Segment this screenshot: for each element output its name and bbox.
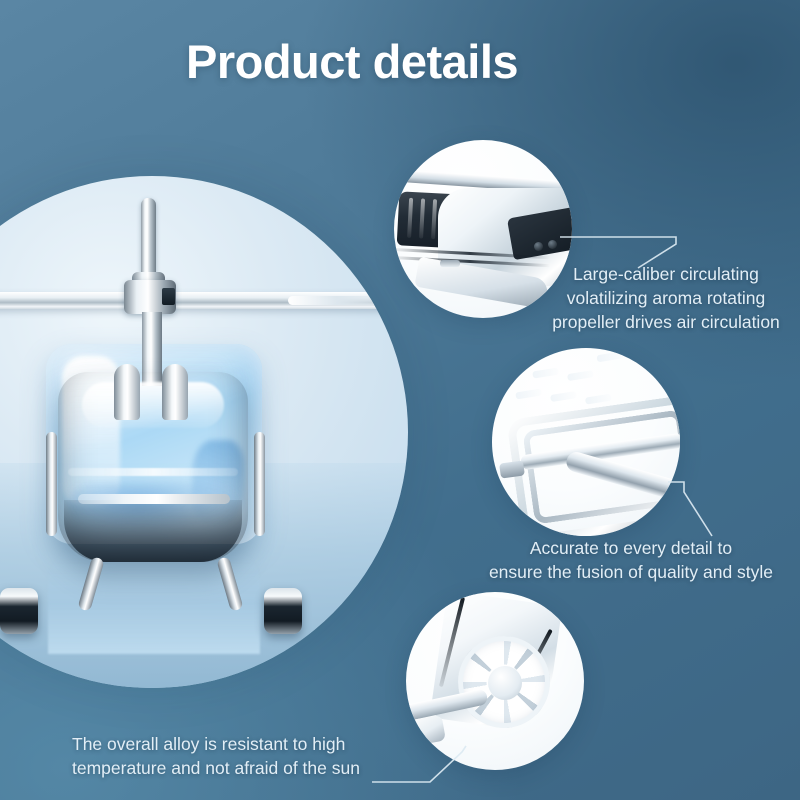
side-fin-left	[46, 432, 57, 536]
detail-photo-3	[406, 592, 584, 770]
product-details-page: Product details	[0, 0, 800, 800]
landing-skid-right	[216, 556, 243, 611]
cockpit-pillar-right	[162, 364, 188, 420]
side-fin-right	[254, 432, 265, 536]
fuselage-top-highlight	[82, 382, 224, 428]
rotor-blade-tip-right	[288, 296, 408, 305]
tail-boom-peg	[406, 715, 446, 748]
callout-2-line-2: ensure the fusion of quality and style	[466, 560, 796, 584]
cockpit-pillar-left	[114, 364, 140, 420]
fuselage-shadow	[64, 500, 242, 562]
hero-product-image	[0, 176, 408, 688]
page-title: Product details	[186, 34, 518, 89]
callout-2-line-1: Accurate to every detail to	[466, 536, 796, 560]
skid-foot-left	[0, 588, 38, 634]
callout-3-line-2: temperature and not afraid of the sun	[72, 756, 402, 780]
detail-photo-2	[492, 348, 680, 536]
hero-artwork	[0, 176, 408, 688]
fuselage-specular-band	[68, 468, 238, 476]
rivet-dot-right	[548, 240, 557, 249]
body-slot-detail	[440, 260, 460, 267]
callout-text-2: Accurate to every detail to ensure the f…	[466, 536, 796, 584]
callout-1-line-2: volatilizing aroma rotating	[534, 286, 798, 310]
horizontal-stabilizer	[78, 494, 230, 504]
rotor-hub-marker	[162, 288, 175, 305]
skid-foot-right	[264, 588, 302, 634]
helicopter-fuselage	[58, 372, 248, 562]
callout-1-line-3: propeller drives air circulation	[534, 310, 798, 334]
callout-text-1: Large-caliber circulating volatilizing a…	[534, 262, 798, 334]
callout-1-line-1: Large-caliber circulating	[534, 262, 798, 286]
callout-text-3: The overall alloy is resistant to high t…	[72, 732, 402, 780]
helicopter-model	[0, 176, 408, 688]
rotor-mast-upper	[141, 198, 156, 282]
callout-3-line-1: The overall alloy is resistant to high	[72, 732, 402, 756]
rivet-dot-left	[534, 242, 543, 251]
tail-rotor-hubcap	[488, 666, 522, 700]
landing-skid-left	[77, 556, 104, 611]
